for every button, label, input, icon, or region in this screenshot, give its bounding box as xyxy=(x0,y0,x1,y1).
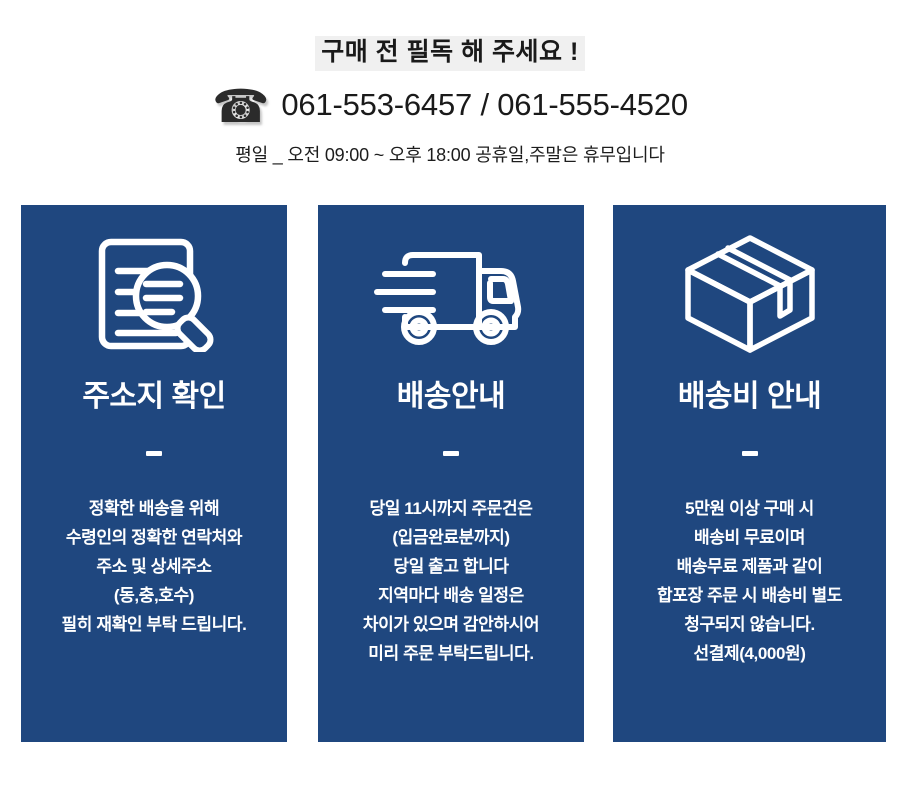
card-title: 배송안내 xyxy=(397,380,505,413)
body-line: (동,충,호수) xyxy=(62,581,247,610)
body-line: 배송무료 제품과 같이 xyxy=(657,552,842,581)
body-line: (입금완료분까지) xyxy=(363,523,539,552)
card-title: 주소지 확인 xyxy=(82,380,225,413)
body-line: 당일 출고 합니다 xyxy=(363,552,539,581)
phone-numbers: 061-553-6457 / 061-555-4520 xyxy=(281,87,688,123)
body-line: 정확한 배송을 위해 xyxy=(62,494,247,523)
package-box-icon xyxy=(613,205,886,380)
card-divider xyxy=(443,451,459,456)
body-line: 수령인의 정확한 연락처와 xyxy=(62,523,247,552)
body-line: 청구되지 않습니다. xyxy=(657,610,842,639)
body-line: 주소 및 상세주소 xyxy=(62,552,247,581)
info-cards: 주소지 확인 정확한 배송을 위해 수령인의 정확한 연락처와 주소 및 상세주… xyxy=(0,205,900,745)
body-line: 5만원 이상 구매 시 xyxy=(657,494,842,523)
delivery-truck-icon xyxy=(318,205,584,380)
body-line: 당일 11시까지 주문건은 xyxy=(363,494,539,523)
card-divider xyxy=(146,451,162,456)
body-line: 필히 재확인 부탁 드립니다. xyxy=(62,610,247,639)
card-body: 정확한 배송을 위해 수령인의 정확한 연락처와 주소 및 상세주소 (동,충,… xyxy=(56,494,253,639)
card-title: 배송비 안내 xyxy=(678,380,821,413)
body-line: 지역마다 배송 일정은 xyxy=(363,581,539,610)
phone-contact-row: ☎ 061-553-6457 / 061-555-4520 xyxy=(0,82,900,128)
document-magnifier-icon xyxy=(21,205,287,380)
notice-header: 구매 전 필독 해 주세요 ! ☎ 061-553-6457 / 061-555… xyxy=(0,0,900,167)
card-body: 5만원 이상 구매 시 배송비 무료이며 배송무료 제품과 같이 합포장 주문 … xyxy=(651,494,848,668)
page-title: 구매 전 필독 해 주세요 ! xyxy=(315,36,585,71)
body-line: 차이가 있으며 감안하시어 xyxy=(363,610,539,639)
card-body: 당일 11시까지 주문건은 (입금완료분까지) 당일 출고 합니다 지역마다 배… xyxy=(357,494,545,668)
telephone-icon: ☎ xyxy=(212,83,269,129)
body-line: 선결제(4,000원) xyxy=(657,639,842,668)
card-address-check: 주소지 확인 정확한 배송을 위해 수령인의 정확한 연락처와 주소 및 상세주… xyxy=(21,205,287,742)
business-hours: 평일 _ 오전 09:00 ~ 오후 18:00 공휴일,주말은 휴무입니다 xyxy=(0,141,900,167)
body-line: 배송비 무료이며 xyxy=(657,523,842,552)
body-line: 합포장 주문 시 배송비 별도 xyxy=(657,581,842,610)
card-shipping-fee: 배송비 안내 5만원 이상 구매 시 배송비 무료이며 배송무료 제품과 같이 … xyxy=(613,205,886,742)
card-delivery-info: 배송안내 당일 11시까지 주문건은 (입금완료분까지) 당일 출고 합니다 지… xyxy=(318,205,584,742)
body-line: 미리 주문 부탁드립니다. xyxy=(363,639,539,668)
card-divider xyxy=(742,451,758,456)
